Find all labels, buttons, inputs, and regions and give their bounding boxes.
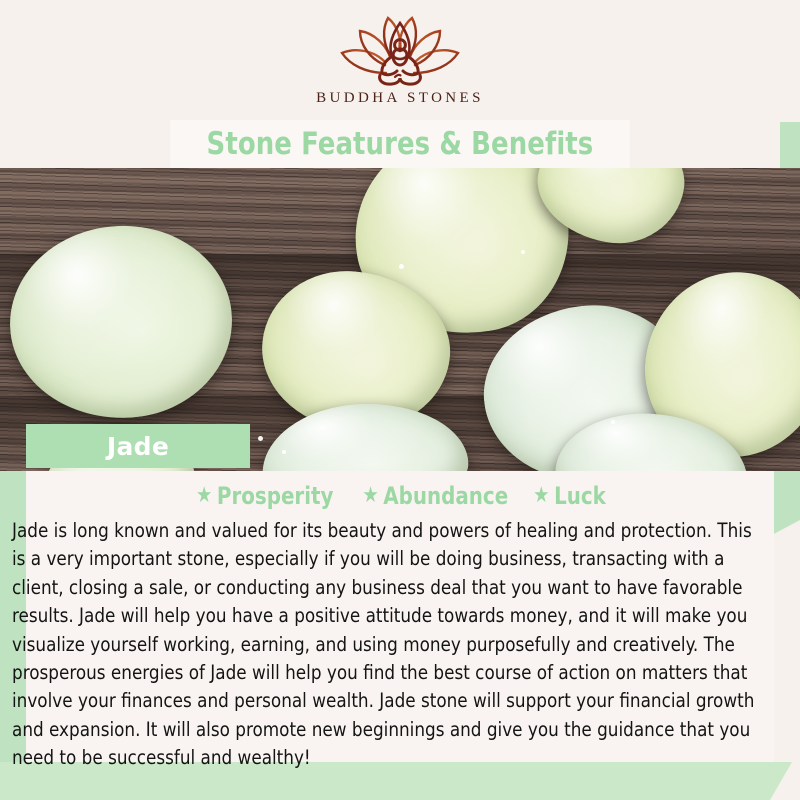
content-panel: ★ Prosperity ★ Abundance ★ Luck Jade is …: [26, 471, 774, 762]
brand-wordmark: BUDDHA STONES: [316, 90, 484, 107]
star-icon: ★: [196, 485, 212, 507]
benefits-list: ★ Prosperity ★ Abundance ★ Luck: [26, 479, 774, 513]
stone-name-label: Jade: [26, 424, 250, 468]
brand-header: BUDDHA STONES: [0, 0, 800, 122]
page-title: Stone Features & Benefits: [207, 126, 594, 162]
title-banner: Stone Features & Benefits: [170, 120, 630, 168]
stone-description: Jade is long known and valued for its be…: [12, 513, 763, 773]
lotus-meditation-icon: [336, 15, 464, 87]
benefit-item-luck: ★ Luck: [534, 482, 607, 510]
stone-glint: [258, 436, 263, 441]
stone-glint: [521, 250, 525, 254]
stone-glint: [282, 450, 286, 454]
stone-name-text: Jade: [107, 432, 169, 461]
stone-glint: [611, 420, 615, 424]
star-icon: ★: [362, 485, 378, 507]
benefit-label: Luck: [555, 482, 607, 510]
benefit-item-abundance: ★ Abundance: [362, 482, 508, 510]
star-icon: ★: [534, 485, 550, 507]
infographic-page: BUDDHA STONES Stone Features & Benefits: [0, 0, 800, 800]
benefit-label: Abundance: [383, 482, 508, 510]
benefit-item-prosperity: ★ Prosperity: [196, 482, 334, 510]
benefit-label: Prosperity: [217, 482, 334, 510]
stone-glint: [399, 264, 404, 269]
